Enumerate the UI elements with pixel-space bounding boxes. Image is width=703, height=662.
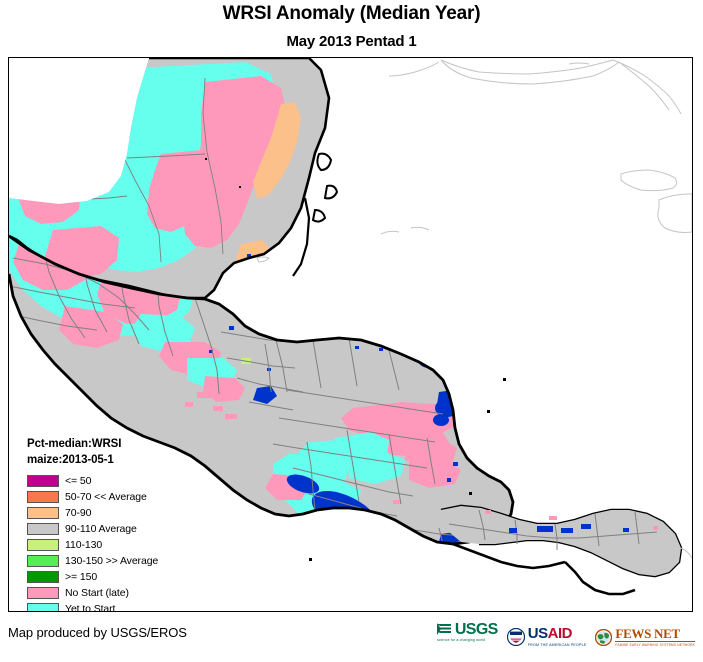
- usaid-aid-text: AID: [548, 625, 572, 642]
- legend-item: 110-130: [27, 537, 237, 553]
- legend-title-line1: Pct-median:WRSI: [27, 436, 237, 452]
- legend-swatch: [27, 507, 59, 519]
- legend-item: Yet to Start: [27, 601, 237, 612]
- usaid-us-text: US: [528, 625, 548, 642]
- legend-label: No Start (late): [65, 587, 129, 599]
- legend-items: <= 5050-70 << Average70-9090-110 Average…: [27, 473, 237, 612]
- legend-label: 90-110 Average: [65, 523, 137, 535]
- agency-logos: USGS science for a changing world USAID …: [437, 622, 695, 652]
- legend-item: No Start (late): [27, 585, 237, 601]
- fews-globe-icon: [595, 629, 612, 646]
- usgs-tagline: science for a changing world: [437, 638, 485, 642]
- legend-swatch: [27, 587, 59, 599]
- legend-swatch: [27, 603, 59, 612]
- legend-swatch: [27, 491, 59, 503]
- usaid-tagline: FROM THE AMERICAN PEOPLE: [528, 643, 587, 647]
- usgs-wordmark: USGS: [455, 622, 498, 637]
- legend-title-line2: maize:2013-05-1: [27, 452, 237, 468]
- usaid-logo[interactable]: USAID FROM THE AMERICAN PEOPLE: [507, 622, 587, 652]
- legend-label: 50-70 << Average: [65, 491, 147, 503]
- map-credit: Map produced by USGS/EROS: [8, 625, 187, 640]
- legend-item: 50-70 << Average: [27, 489, 237, 505]
- usgs-wave-icon: [437, 622, 453, 637]
- legend-swatch: [27, 555, 59, 567]
- page-subtitle: May 2013 Pentad 1: [0, 33, 703, 50]
- legend-item: 130-150 >> Average: [27, 553, 237, 569]
- legend-item: 90-110 Average: [27, 521, 237, 537]
- map-frame[interactable]: Pct-median:WRSI maize:2013-05-1 <= 5050-…: [8, 57, 693, 612]
- legend-label: 70-90: [65, 507, 91, 519]
- legend-swatch: [27, 571, 59, 583]
- legend-label: <= 50: [65, 475, 91, 487]
- legend-label: >= 150: [65, 571, 97, 583]
- legend-swatch: [27, 539, 59, 551]
- fews-wordmark: FEWS NET: [615, 628, 695, 640]
- usaid-seal-icon: [507, 628, 525, 646]
- legend-item: >= 150: [27, 569, 237, 585]
- legend-label: Yet to Start: [65, 603, 115, 612]
- legend-label: 110-130: [65, 539, 102, 551]
- legend-label: 130-150 >> Average: [65, 555, 158, 567]
- fews-net-logo[interactable]: FEWS NET FAMINE EARLY WARNING SYSTEMS NE…: [595, 622, 695, 652]
- page-title: WRSI Anomaly (Median Year): [0, 3, 703, 25]
- legend-item: 70-90: [27, 505, 237, 521]
- usgs-logo[interactable]: USGS science for a changing world: [437, 622, 498, 652]
- legend-swatch: [27, 475, 59, 487]
- fews-tagline: FAMINE EARLY WARNING SYSTEMS NETWORK: [615, 643, 695, 647]
- legend-item: <= 50: [27, 473, 237, 489]
- fews-divider: [615, 641, 695, 642]
- legend-swatch: [27, 523, 59, 535]
- map-legend: Pct-median:WRSI maize:2013-05-1 <= 5050-…: [27, 436, 237, 612]
